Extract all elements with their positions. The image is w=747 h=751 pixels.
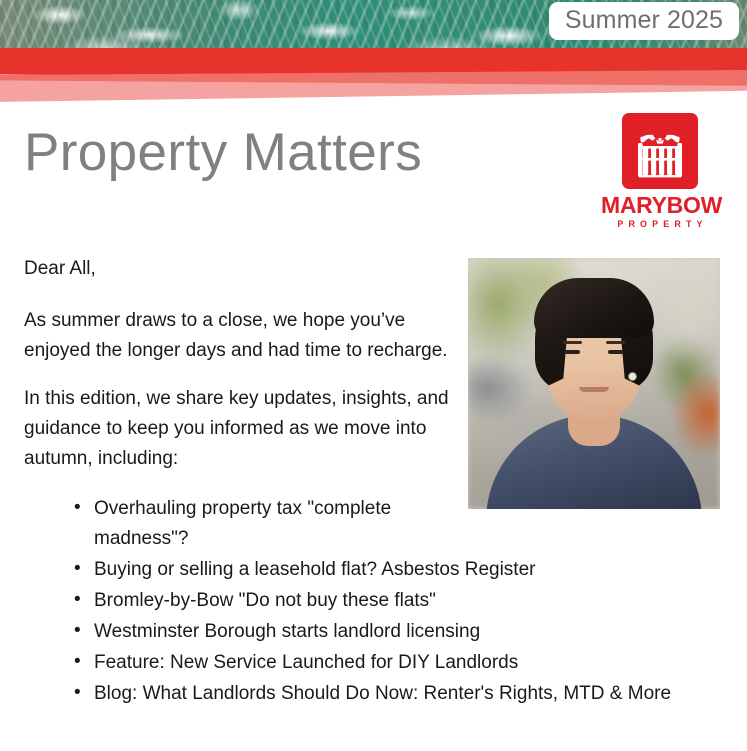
- portrait-mouth: [579, 387, 609, 392]
- portrait-eye-left: [565, 350, 580, 354]
- portrait-hair-top: [534, 278, 654, 338]
- letter-paragraph-2: In this edition, we share key updates, i…: [24, 384, 456, 474]
- marybow-logo[interactable]: MARYBOW PROPERTY: [601, 113, 719, 229]
- letter-paragraph-1: As summer draws to a close, we hope you’…: [24, 306, 456, 366]
- list-item[interactable]: Bromley-by-Bow "Do not buy these flats": [74, 586, 723, 616]
- list-item[interactable]: Buying or selling a leasehold flat? Asbe…: [74, 555, 723, 585]
- header-banner: Summer 2025: [0, 0, 747, 108]
- letter-greeting: Dear All,: [24, 248, 454, 284]
- list-item[interactable]: Overhauling property tax "complete madne…: [74, 494, 464, 554]
- author-portrait-photo: [468, 258, 720, 509]
- portrait-eye-right: [608, 350, 623, 354]
- logo-subword: PROPERTY: [601, 220, 719, 229]
- topic-list: Overhauling property tax "complete madne…: [24, 494, 723, 709]
- logo-wordmark: MARYBOW: [601, 194, 719, 217]
- list-item[interactable]: Westminster Borough starts landlord lice…: [74, 617, 723, 647]
- page-title: Property Matters: [24, 126, 422, 179]
- portrait-brow-right: [606, 341, 625, 344]
- list-item[interactable]: Feature: New Service Launched for DIY La…: [74, 648, 723, 678]
- list-item[interactable]: Blog: What Landlords Should Do Now: Rent…: [74, 679, 723, 709]
- portrait-brow-left: [563, 341, 582, 344]
- marybow-birds-fence-logo-mark: [622, 113, 698, 189]
- portrait-earring: [628, 372, 637, 381]
- season-badge: Summer 2025: [549, 2, 739, 40]
- letter-body: Dear All, As summer draws to a close, we…: [0, 248, 747, 709]
- brand-row: Property Matters: [0, 108, 747, 248]
